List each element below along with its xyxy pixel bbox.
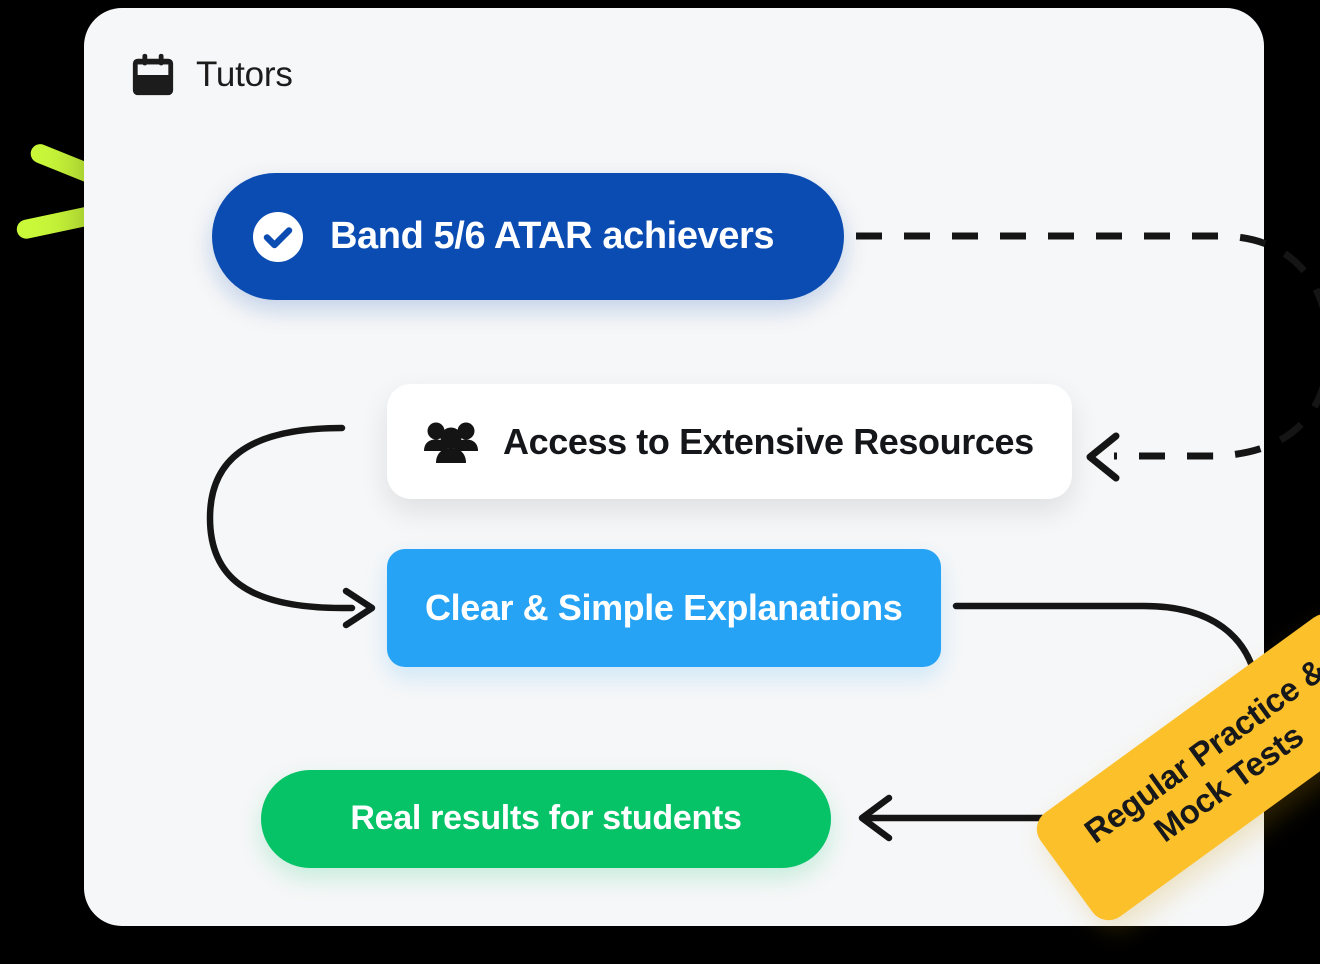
node-real-results-label: Real results for students (350, 800, 741, 837)
node-clear-simple-explanations[interactable]: Clear & Simple Explanations (387, 549, 941, 667)
node-extensive-resources-label: Access to Extensive Resources (503, 422, 1034, 462)
check-circle-icon (252, 211, 304, 263)
page-title: Tutors (196, 55, 293, 95)
node-band-achievers[interactable]: Band 5/6 ATAR achievers (212, 173, 844, 300)
node-band-achievers-label: Band 5/6 ATAR achievers (330, 216, 774, 258)
node-regular-practice-label: Regular Practice & Mock Tests (1072, 646, 1320, 887)
resources-to-explain-arrowhead (346, 591, 372, 625)
card-header: Tutors (130, 52, 293, 98)
tutors-card: Tutors Band 5/6 ATAR achieve (84, 8, 1264, 926)
practice-to-results-arrowhead (862, 798, 889, 838)
node-regular-practice[interactable]: Regular Practice & Mock Tests (1052, 625, 1320, 909)
resources-to-explain-path (210, 428, 352, 608)
node-real-results[interactable]: Real results for students (261, 770, 831, 868)
dashed-connector-arrowhead (1090, 436, 1116, 478)
screenshot-root: Tutors Band 5/6 ATAR achieve (0, 0, 1320, 956)
node-extensive-resources[interactable]: Access to Extensive Resources (387, 384, 1072, 499)
people-group-icon (423, 419, 479, 465)
node-clear-simple-explanations-label: Clear & Simple Explanations (425, 588, 902, 628)
calendar-icon (130, 52, 176, 98)
node-regular-practice-surface: Regular Practice & Mock Tests (1029, 606, 1320, 928)
